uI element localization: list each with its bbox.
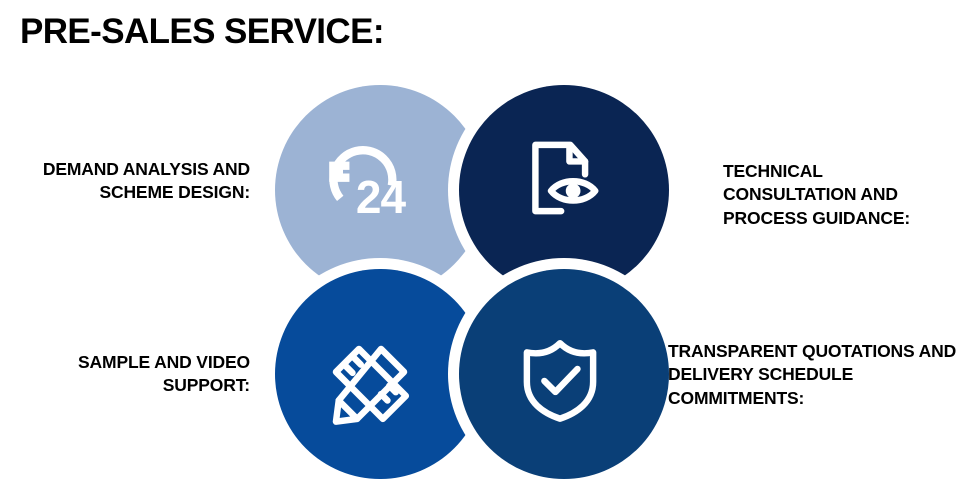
label-demand-analysis: DEMAND ANALYSIS AND SCHEME DESIGN: [10, 158, 250, 205]
page-title: PRE-SALES SERVICE: [20, 12, 384, 52]
circle-technical [459, 85, 669, 295]
circles-graphic [262, 72, 682, 492]
label-sample-video: SAMPLE AND VIDEO SUPPORT: [10, 351, 250, 398]
circle-demand [275, 85, 485, 295]
circle-sample [275, 269, 485, 479]
label-transparent-quotations: TRANSPARENT QUOTATIONS AND DELIVERY SCHE… [668, 340, 960, 410]
circle-quotation [459, 269, 669, 479]
four-circle-diagram: 24 [262, 72, 682, 492]
label-technical-consultation: TECHNICAL CONSULTATION AND PROCESS GUIDA… [723, 160, 953, 230]
